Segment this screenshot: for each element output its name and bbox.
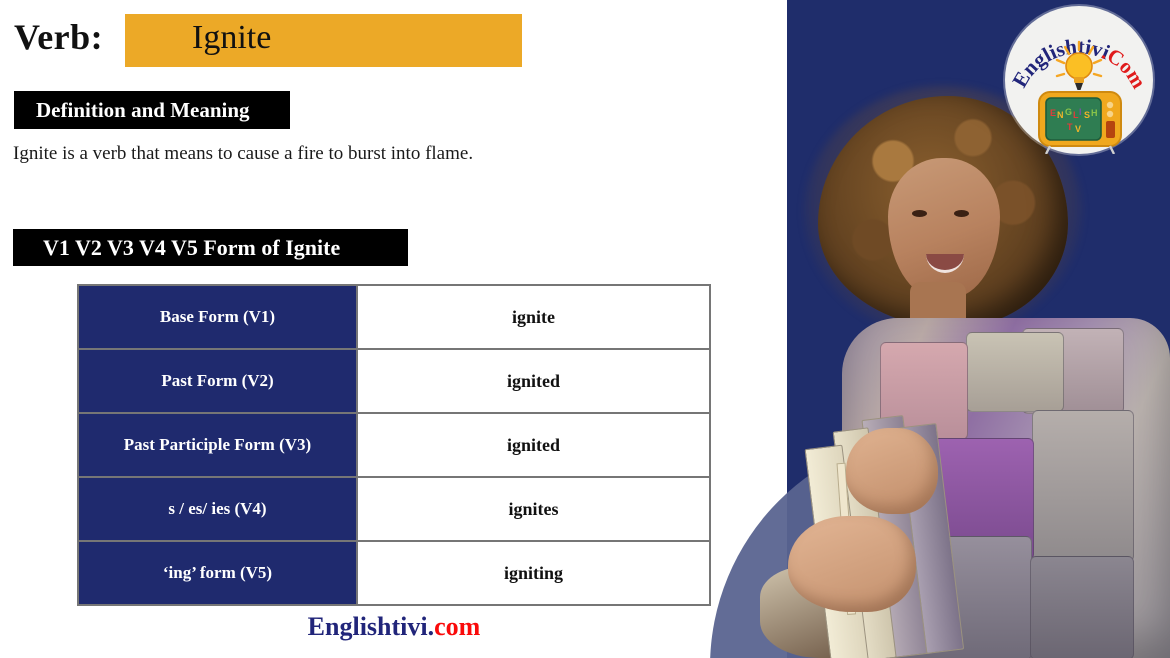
svg-text:S: S [1084,110,1090,120]
verb-label: Verb: [14,16,103,58]
definition-text: Ignite is a verb that means to cause a f… [13,143,473,165]
table-row: Base Form (V1) ignite [78,285,710,349]
table-row: s / es/ ies (V4) ignites [78,477,710,541]
row-value: ignited [357,413,710,477]
row-label: ‘ing’ form (V5) [78,541,357,605]
table-row: ‘ing’ form (V5) igniting [78,541,710,605]
verb-word: Ignite [192,19,271,57]
footer-brand-name: Englishtivi [308,612,428,641]
row-label: s / es/ ies (V4) [78,477,357,541]
face [888,158,1000,298]
logo-text-tld: .Com [1099,40,1152,93]
svg-text:I: I [1079,107,1082,117]
row-value: ignite [357,285,710,349]
verb-forms-table: Base Form (V1) ignite Past Form (V2) ign… [77,284,711,606]
verb-forms-table-body: Base Form (V1) ignite Past Form (V2) ign… [78,285,710,605]
tv-icon: E N G L I S H T V [1039,92,1121,154]
row-value: ignited [357,349,710,413]
slide-canvas: Englishtivi .Com [0,0,1170,658]
forms-heading-chip: V1 V2 V3 V4 V5 Form of Ignite [13,229,408,266]
student-photo [760,96,1170,658]
jacket-patch [1032,410,1134,562]
row-label: Past Form (V2) [78,349,357,413]
svg-text:T: T [1067,122,1073,132]
svg-text:E: E [1050,108,1056,118]
svg-text:G: G [1065,107,1072,117]
definition-heading-chip: Definition and Meaning [14,91,290,129]
table-row: Past Form (V2) ignited [78,349,710,413]
footer-brand[interactable]: Englishtivi.com [77,612,711,642]
row-label: Base Form (V1) [78,285,357,349]
englishtivi-logo[interactable]: Englishtivi .Com [1005,6,1153,154]
logo-artwork: Englishtivi .Com [1005,6,1153,154]
footer-tld: com [434,612,480,641]
svg-text:N: N [1057,110,1064,120]
hand-lower [788,516,916,612]
logo-text-main: Englishtivi [1007,34,1113,91]
smile [926,254,964,273]
jacket-patch [1030,556,1134,658]
eye-right [954,210,969,217]
table-row: Past Participle Form (V3) ignited [78,413,710,477]
row-value: igniting [357,541,710,605]
verb-highlight-bar [125,14,522,67]
eye-left [912,210,927,217]
hand-upper [846,428,938,514]
svg-text:V: V [1075,124,1081,134]
row-label: Past Participle Form (V3) [78,413,357,477]
jacket-patch [966,332,1064,412]
row-value: ignites [357,477,710,541]
svg-text:H: H [1091,108,1098,118]
